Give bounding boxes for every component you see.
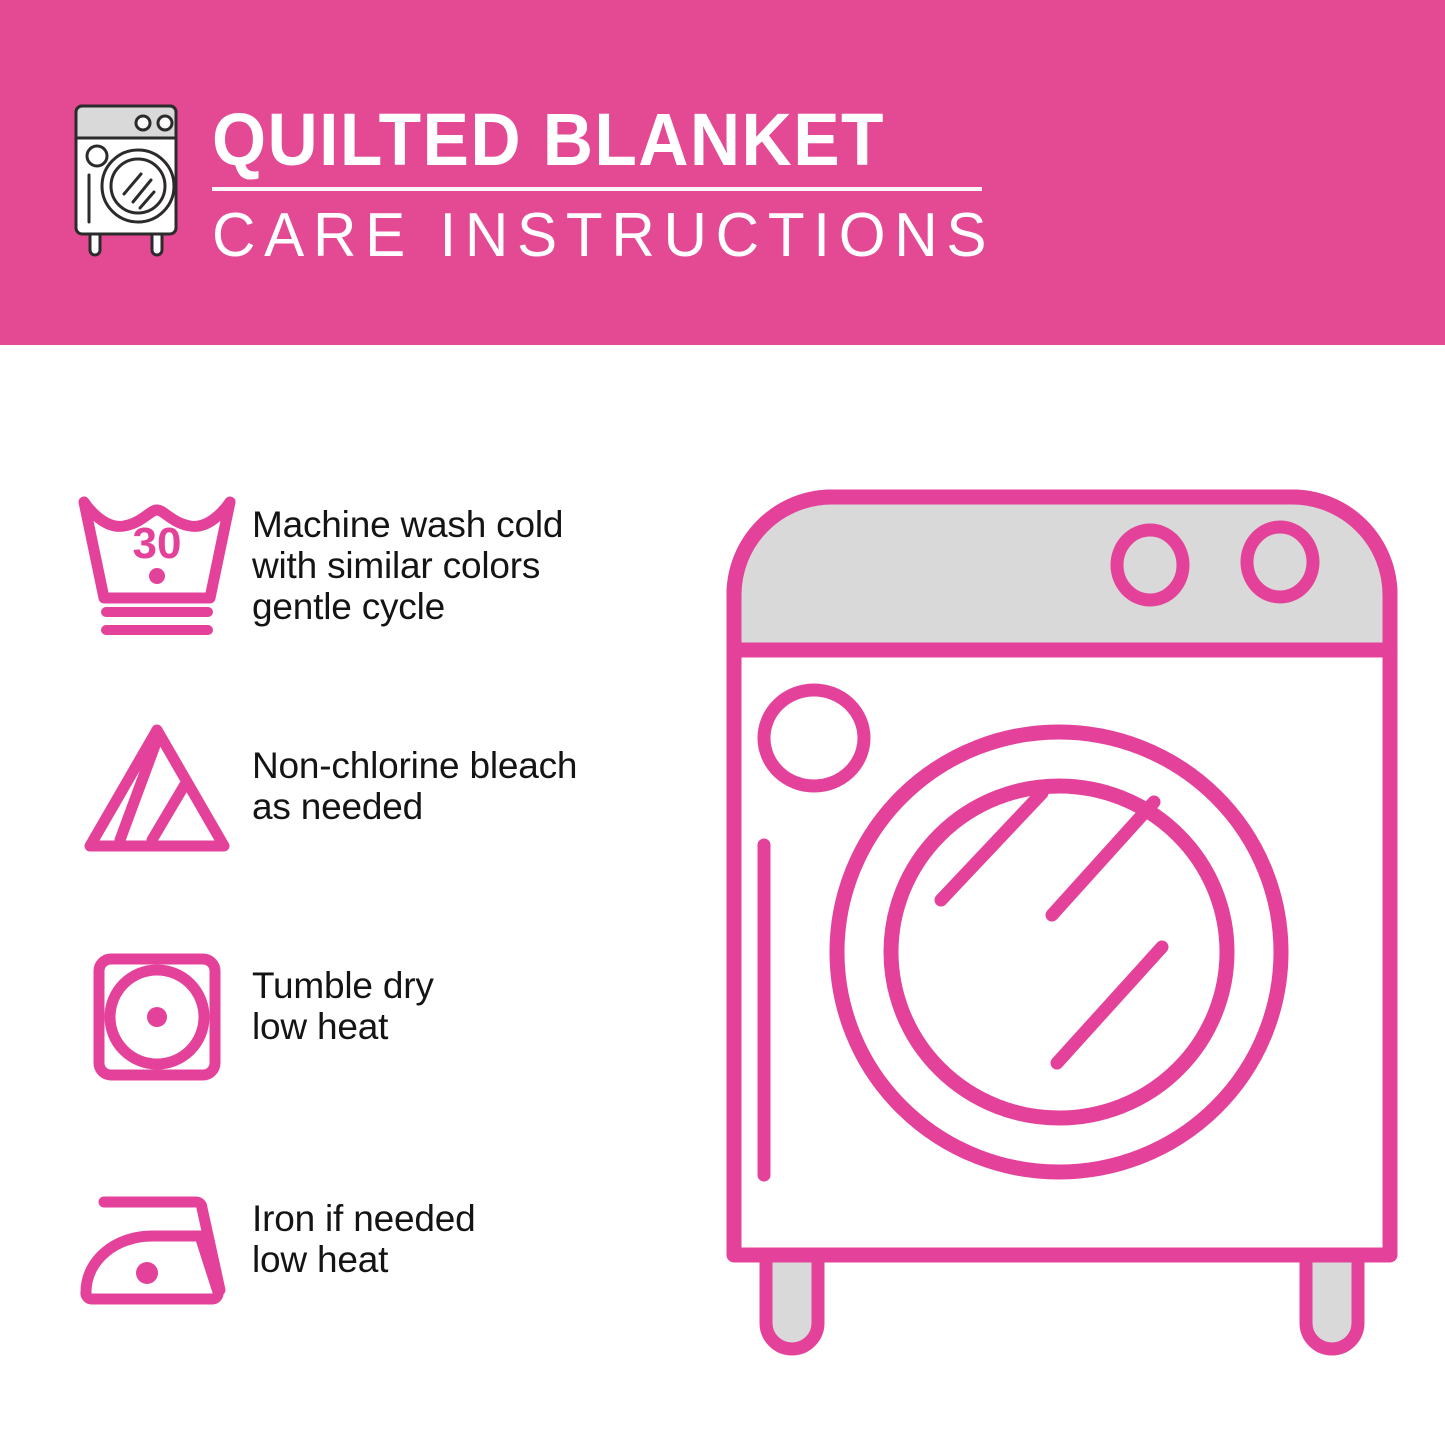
care-symbol-list: 30 Machine wash cold with similar colors…	[62, 480, 702, 1400]
page-title: QUILTED BLANKET	[212, 100, 971, 180]
care-label-line: Tumble dry	[252, 965, 702, 1006]
care-label-line: gentle cycle	[252, 586, 702, 627]
care-label: Machine wash cold with similar colors ge…	[252, 480, 702, 627]
care-label-line: low heat	[252, 1006, 702, 1047]
list-item: 30 Machine wash cold with similar colors…	[62, 480, 702, 710]
header-content: QUILTED BLANKET CARE INSTRUCTIONS	[62, 98, 1019, 269]
header-banner: QUILTED BLANKET CARE INSTRUCTIONS	[0, 0, 1445, 345]
care-label-line: Non-chlorine bleach	[252, 745, 702, 786]
list-item: Iron if needed low heat	[62, 1170, 702, 1400]
title-divider	[212, 187, 982, 191]
iron-low-heat-icon	[62, 1170, 252, 1326]
care-label-line: with similar colors	[252, 545, 702, 586]
tumble-dry-low-heat-icon	[62, 940, 252, 1096]
header-title-block: QUILTED BLANKET CARE INSTRUCTIONS	[212, 100, 1019, 271]
machine-knob-2	[1247, 527, 1313, 597]
washing-machine-illustration	[722, 485, 1402, 1375]
list-item: Non-chlorine bleach as needed	[62, 710, 702, 940]
care-label: Tumble dry low heat	[252, 940, 702, 1047]
page-subtitle: CARE INSTRUCTIONS	[212, 201, 995, 271]
care-label-line: Iron if needed	[252, 1198, 702, 1239]
machine-dispenser-button	[764, 690, 864, 786]
wash-tub-30-gentle-icon: 30	[62, 480, 252, 636]
washing-machine-icon	[62, 98, 190, 258]
list-item: Tumble dry low heat	[62, 940, 702, 1170]
care-label: Iron if needed low heat	[252, 1170, 702, 1280]
care-label: Non-chlorine bleach as needed	[252, 710, 702, 827]
machine-knob-1	[1117, 530, 1183, 600]
care-label-line: Machine wash cold	[252, 504, 702, 545]
wash-temperature-value: 30	[133, 519, 182, 568]
care-label-line: low heat	[252, 1239, 702, 1280]
care-instructions-infographic: QUILTED BLANKET CARE INSTRUCTIONS 30 Mac…	[0, 0, 1445, 1445]
care-label-line: as needed	[252, 786, 702, 827]
non-chlorine-bleach-triangle-icon	[62, 710, 252, 866]
